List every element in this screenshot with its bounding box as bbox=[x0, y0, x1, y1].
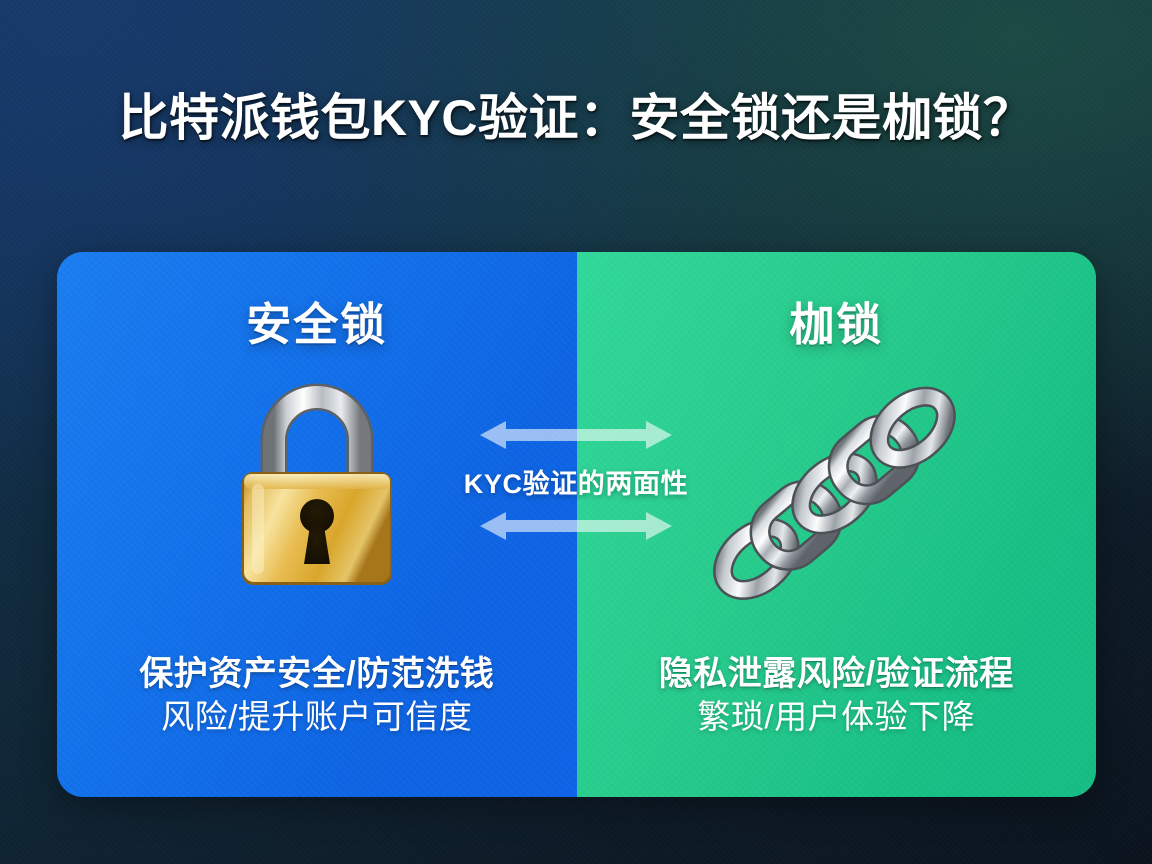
security-caption-line-2: 风险/提升账户可信度 bbox=[73, 696, 561, 739]
security-panel-caption: 保护资产安全/防范洗钱 风险/提升账户可信度 bbox=[73, 652, 561, 739]
security-lock-panel: 安全锁 bbox=[57, 252, 577, 797]
shackle-caption-line-2: 繁琐/用户体验下降 bbox=[593, 696, 1081, 739]
page-title: 比特派钱包KYC验证：安全锁还是枷锁？ bbox=[0, 88, 1152, 149]
security-caption-line-1: 保护资产安全/防范洗钱 bbox=[73, 652, 561, 696]
shackle-caption-line-1: 隐私泄露风险/验证流程 bbox=[593, 652, 1081, 696]
shackle-panel: 枷锁 bbox=[577, 252, 1097, 797]
chain-icon-wrap bbox=[577, 380, 1097, 605]
comparison-card: 安全锁 bbox=[57, 252, 1096, 797]
padlock-icon bbox=[222, 380, 412, 595]
shackle-panel-heading: 枷锁 bbox=[577, 288, 1097, 353]
padlock-icon-wrap bbox=[57, 380, 577, 595]
chain-icon bbox=[699, 380, 974, 605]
security-panel-heading: 安全锁 bbox=[57, 288, 577, 353]
shackle-panel-caption: 隐私泄露风险/验证流程 繁琐/用户体验下降 bbox=[593, 652, 1081, 739]
